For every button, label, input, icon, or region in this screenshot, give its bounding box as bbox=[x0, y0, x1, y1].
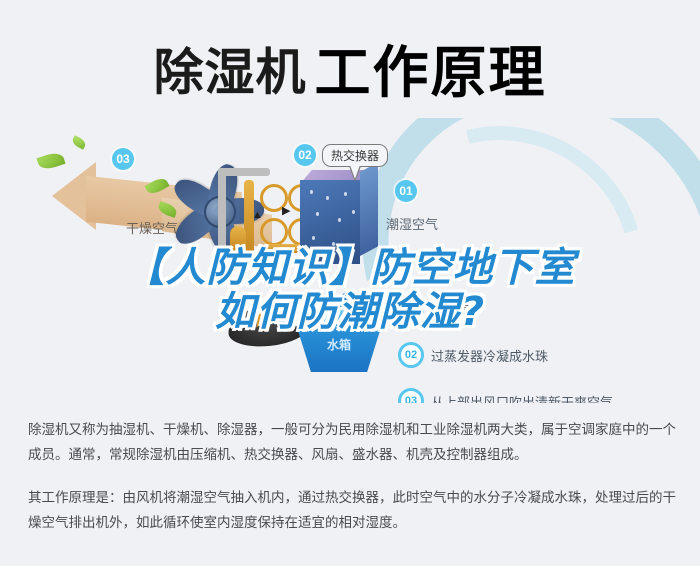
step-item: 03 从上部出风口吹出清新干爽空气 bbox=[398, 388, 698, 403]
step-item: 01 湿空气 bbox=[398, 296, 698, 322]
page-root: 除湿机工作原理 03 干燥空气 bbox=[0, 0, 700, 566]
water-tank-label: 水箱 bbox=[285, 336, 393, 353]
page-title-part1: 除湿机 bbox=[154, 44, 307, 102]
water-tank: 水箱 bbox=[285, 310, 393, 372]
page-title: 除湿机工作原理 bbox=[0, 28, 700, 109]
diagram-illustration: 03 干燥空气 ▲ ▶ ▼ bbox=[0, 118, 700, 403]
step-badge: 02 bbox=[398, 342, 424, 368]
water-tank-lip bbox=[289, 310, 389, 322]
heat-exchanger-bubble-label: 热交换器 bbox=[322, 144, 388, 167]
body-paragraph-2: 其工作原理是：由风机将潮湿空气抽入机内，通过热交换器，此时空气中的水分子冷凝成水… bbox=[28, 486, 676, 536]
leaf-icon bbox=[71, 135, 88, 150]
article-body: 除湿机又称为抽湿机、干燥机、除湿器，一般可分为民用除湿机和工业除湿机两大类，属于… bbox=[28, 418, 676, 554]
airflow-arrow-tail bbox=[348, 296, 374, 306]
step-text: 过蒸发器冷凝成水珠 bbox=[431, 346, 548, 365]
drain-hose-icon bbox=[256, 302, 293, 332]
humid-air-label: 潮湿空气 bbox=[386, 214, 438, 233]
step-list: 01 湿空气 02 过蒸发器冷凝成水珠 03 从上部出风口吹出清新干爽空气 bbox=[398, 296, 698, 403]
step-badge: 01 bbox=[398, 296, 424, 322]
step-badge: 03 bbox=[398, 388, 424, 403]
step-item: 02 过蒸发器冷凝成水珠 bbox=[398, 342, 698, 368]
page-title-part2: 工作原理 bbox=[315, 41, 547, 106]
step-text: 湿空气 bbox=[431, 300, 470, 319]
dry-air-badge: 03 bbox=[112, 148, 134, 170]
airflow-arrow-icon bbox=[330, 290, 350, 312]
heat-exchanger-block bbox=[300, 170, 378, 264]
humid-air-badge: 01 bbox=[395, 180, 417, 202]
heat-exchanger-badge: 02 bbox=[294, 144, 316, 166]
body-paragraph-1: 除湿机又称为抽湿机、干燥机、除湿器，一般可分为民用除湿机和工业除湿机两大类，属于… bbox=[28, 418, 676, 468]
step-text: 从上部出风口吹出清新干爽空气 bbox=[431, 392, 613, 404]
